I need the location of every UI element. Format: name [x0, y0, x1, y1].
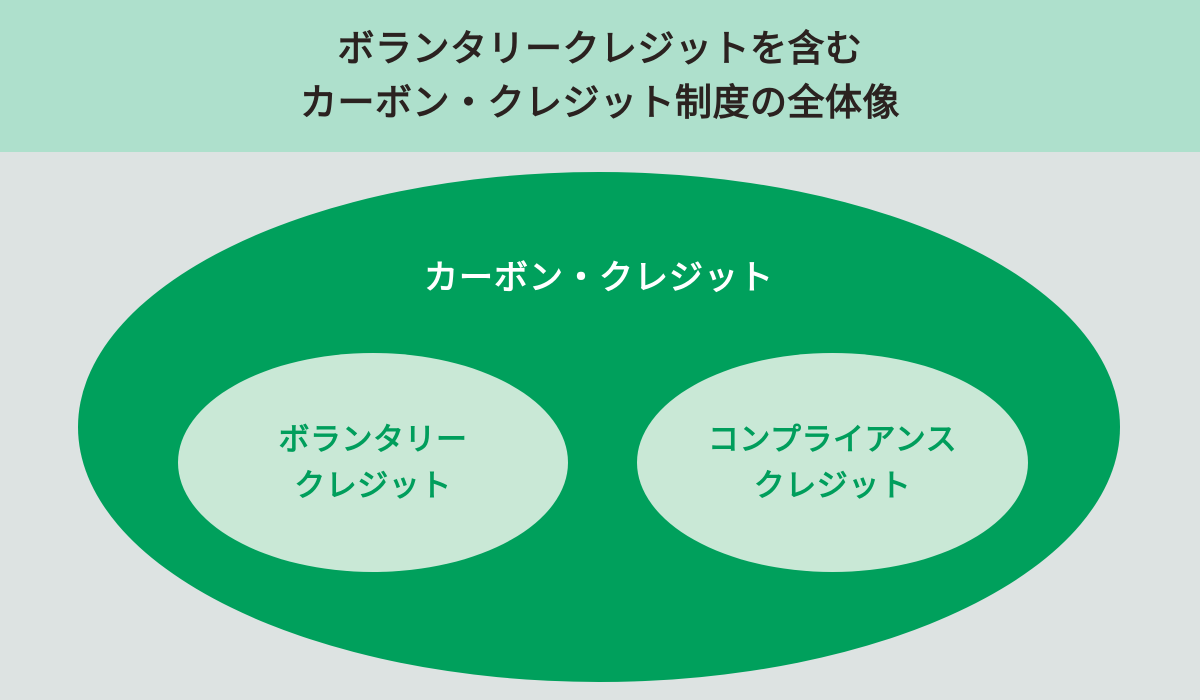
- header-band: ボランタリークレジットを含む カーボン・クレジット制度の全体像: [0, 0, 1200, 152]
- inner-ellipse-voluntary-label-line-1: ボランタリー: [279, 417, 468, 463]
- inner-ellipse-voluntary-credit: ボランタリー クレジット: [178, 353, 568, 572]
- outer-ellipse-label: カーボン・クレジット: [78, 250, 1120, 299]
- diagram-area: カーボン・クレジット ボランタリー クレジット コンプライアンス クレジット: [0, 152, 1200, 700]
- page-title-line-1: ボランタリークレジットを含む: [338, 22, 863, 76]
- inner-ellipse-compliance-label-line-1: コンプライアンス: [708, 417, 957, 463]
- inner-ellipse-compliance-credit: コンプライアンス クレジット: [637, 353, 1028, 572]
- inner-ellipse-voluntary-label-line-2: クレジット: [294, 463, 452, 509]
- diagram-canvas: ボランタリークレジットを含む カーボン・クレジット制度の全体像 カーボン・クレジ…: [0, 0, 1200, 700]
- outer-ellipse-carbon-credit: カーボン・クレジット ボランタリー クレジット コンプライアンス クレジット: [78, 172, 1120, 682]
- page-title-line-2: カーボン・クレジット制度の全体像: [300, 76, 900, 130]
- inner-ellipse-compliance-label-line-2: クレジット: [754, 463, 912, 509]
